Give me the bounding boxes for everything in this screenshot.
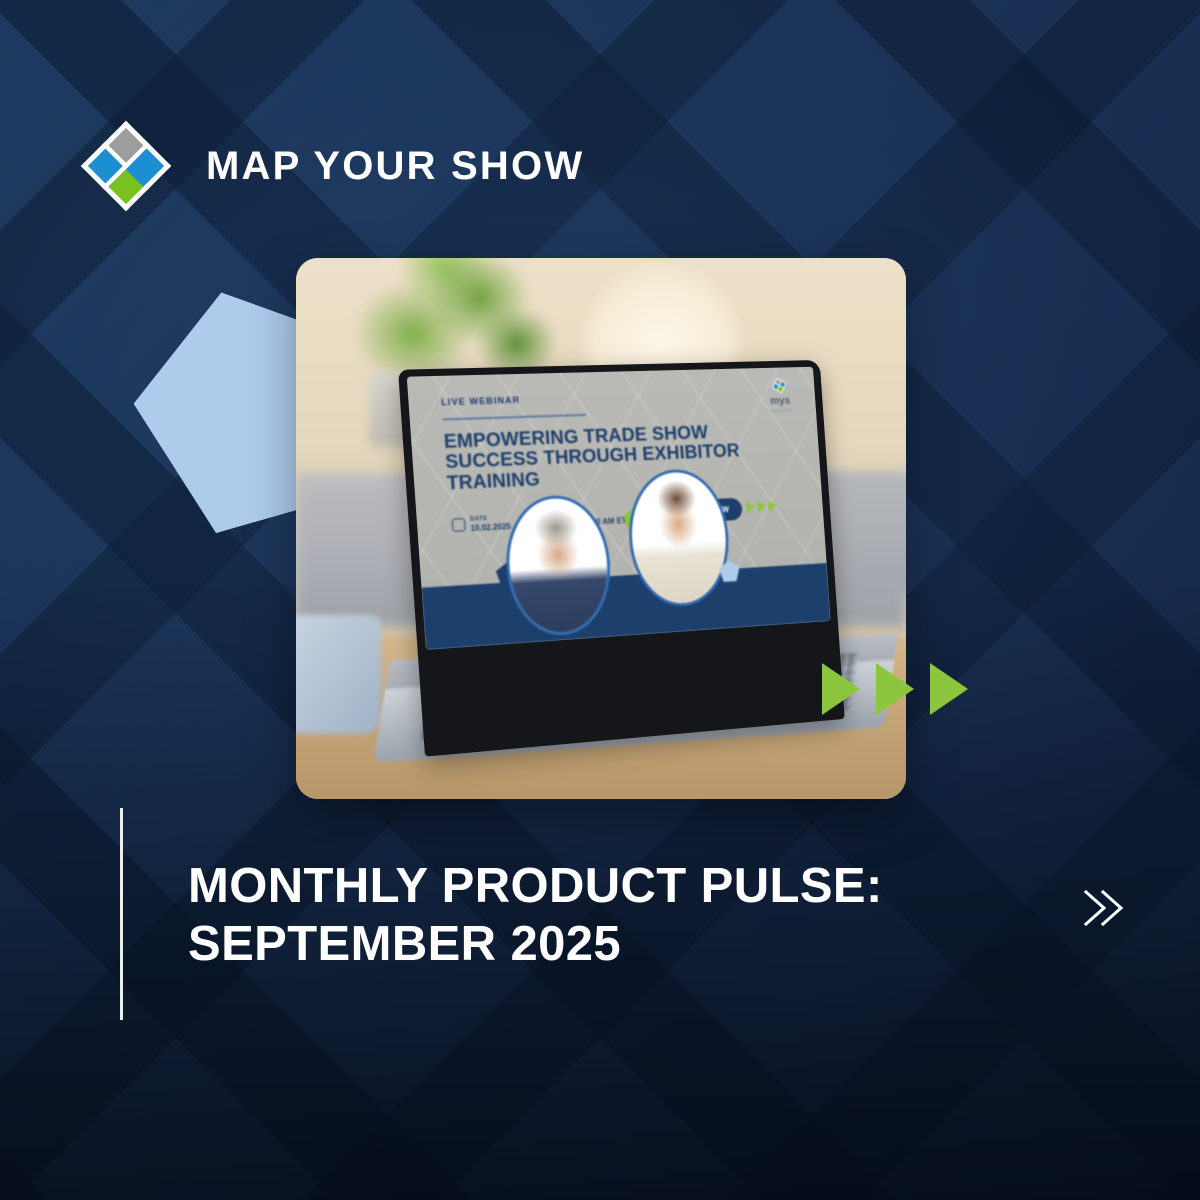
- brand-name: MAP YOUR SHOW: [206, 144, 584, 189]
- play-arrow-icon-1: [822, 663, 860, 715]
- mys-logo-icon: mys map your show: [762, 378, 797, 417]
- page-title-line-1: MONTHLY PRODUCT PULSE:: [188, 858, 948, 916]
- page-title: MONTHLY PRODUCT PULSE: SEPTEMBER 2025: [188, 858, 948, 974]
- poster-canvas: MAP YOUR SHOW LIVE WEBINAR EMPOWERING TR…: [0, 0, 1200, 1200]
- play-arrow-icon-3: [930, 663, 968, 715]
- slide-bottom-band: [421, 563, 830, 651]
- svg-text:mys: mys: [770, 395, 791, 407]
- slide-date-item: DATE 10.02.2025: [451, 515, 511, 534]
- slide-triple-play-arrow-icon: [746, 500, 777, 513]
- page-title-line-2: SEPTEMBER 2025: [188, 916, 948, 974]
- speaker-one-portrait: [505, 497, 612, 636]
- slide-divider: [442, 414, 585, 421]
- webinar-slide: LIVE WEBINAR EMPOWERING TRADE SHOW SUCCE…: [407, 367, 831, 651]
- slide-eyebrow: LIVE WEBINAR: [441, 396, 521, 408]
- mys-diamond-logo-icon: [78, 118, 174, 214]
- brand-header: MAP YOUR SHOW: [78, 118, 584, 214]
- hero-photo-card: LIVE WEBINAR EMPOWERING TRADE SHOW SUCCE…: [296, 258, 906, 799]
- speaker-avatar-one: [501, 494, 615, 639]
- photo-mug: [296, 615, 381, 734]
- slide-date-value: 10.02.2025: [470, 522, 511, 533]
- laptop-screen: LIVE WEBINAR EMPOWERING TRADE SHOW SUCCE…: [407, 367, 831, 651]
- double-chevron-right-icon[interactable]: [1072, 880, 1128, 936]
- calendar-icon: [451, 518, 465, 532]
- speaker-two-portrait: [627, 471, 730, 606]
- svg-text:map your show: map your show: [770, 408, 793, 413]
- triple-play-arrow-icon: [822, 663, 968, 715]
- play-arrow-icon-2: [876, 663, 914, 715]
- title-accent-rule: [120, 808, 123, 1020]
- laptop-lid: LIVE WEBINAR EMPOWERING TRADE SHOW SUCCE…: [398, 360, 845, 756]
- photo-laptop: LIVE WEBINAR EMPOWERING TRADE SHOW SUCCE…: [398, 360, 845, 756]
- speaker-avatar-two: [624, 468, 733, 609]
